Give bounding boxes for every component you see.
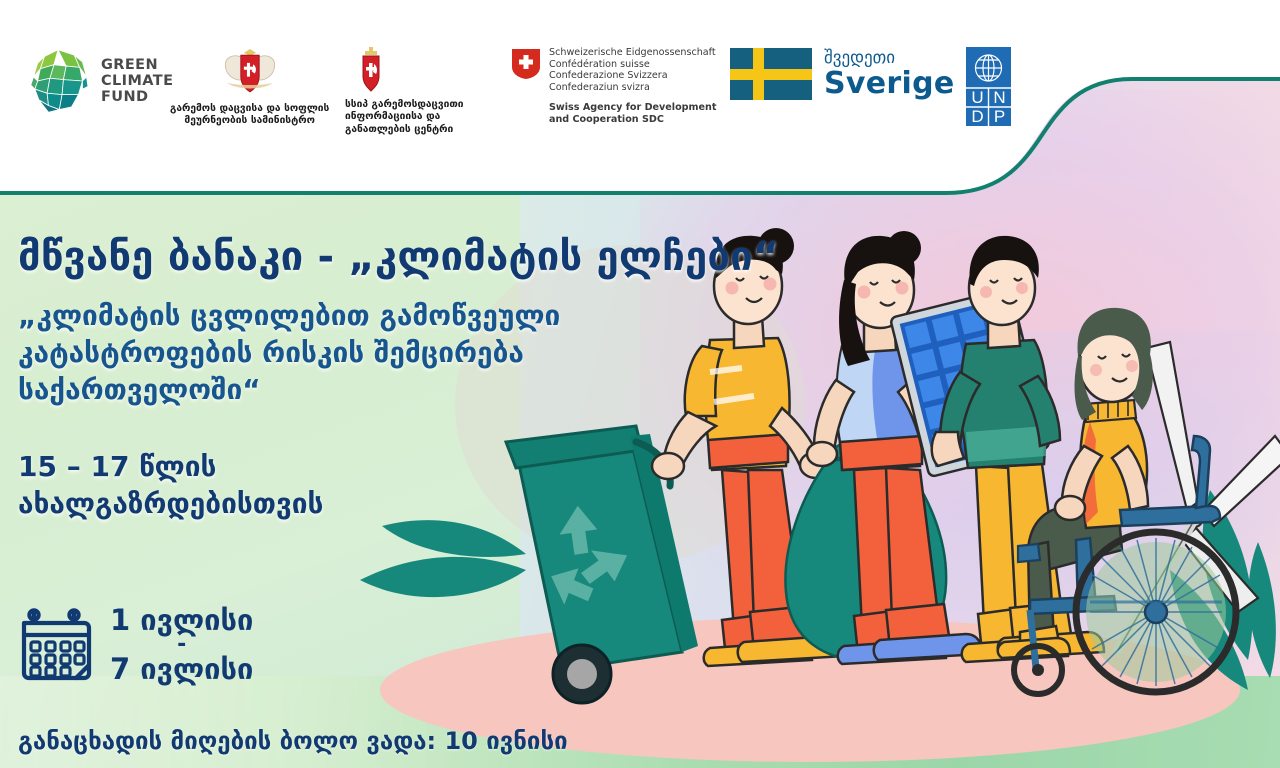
undp-letter-p: P	[994, 107, 1005, 126]
logo-green-climate-fund: GREEN CLIMATE FUND	[24, 47, 173, 115]
ministry-caption: გარემოს დაცვისა და სოფლის მეურნეობის სამ…	[170, 103, 329, 128]
gcf-wordmark: GREEN CLIMATE FUND	[101, 57, 173, 105]
sweden-label-ka: შვედეთი	[824, 49, 955, 68]
gcf-line-1: GREEN	[101, 57, 173, 73]
swiss-line-4: Confederaziun svizra	[549, 82, 716, 94]
swiss-shield-icon	[512, 49, 540, 79]
gcf-line-3: FUND	[101, 89, 173, 105]
ministry-line-1: გარემოს დაცვისა და სოფლის	[170, 103, 329, 115]
logo-undp: U N D P	[966, 47, 1011, 126]
logo-swiss-agency-development-cooperation: Schweizerische Eidgenossenschaft Confédé…	[512, 47, 716, 126]
georgia-coat-of-arms-icon	[355, 46, 387, 94]
ministry-line-2: მეურნეობის სამინისტრო	[170, 115, 329, 127]
undp-un-emblem-icon: U N D P	[966, 47, 1011, 126]
undp-letter-d: D	[971, 107, 983, 126]
logo-sweden: შვედეთი Sverige	[730, 48, 955, 100]
swiss-line-2: Confédération suisse	[549, 59, 716, 71]
eiec-line-2: ინფორმაციისა და	[345, 111, 464, 123]
page-subtitle: „კლიმატის ცვლილებით გამოწვეული კატასტროფ…	[18, 297, 678, 408]
swiss-line-1: Schweizerische Eidgenossenschaft	[549, 47, 716, 59]
subtitle-line-1: „კლიმატის ცვლილებით გამოწვეული	[18, 297, 678, 334]
logo-ministry-environment-agriculture: გარემოს დაცვისა და სოფლის მეურნეობის სამ…	[170, 46, 329, 128]
calendar-icon	[16, 605, 94, 685]
sweden-label-sv: Sverige	[824, 68, 955, 100]
page-title: მწვანე ბანაკი - „კლიმატის ელჩები“	[18, 233, 918, 281]
logo-row: GREEN CLIMATE FUND გარემოს დაცვისა და სო…	[0, 0, 1280, 190]
sweden-wordmark: შვედეთი Sverige	[824, 49, 955, 100]
leaf-plants-left	[360, 520, 526, 597]
subtitle-line-2: კატასტროფების რისკის შემცირება	[18, 334, 678, 371]
globe-polygon-icon	[24, 47, 92, 115]
eiec-line-1: სსიპ გარემოსდაცვითი	[345, 99, 464, 111]
swiss-agency-line-2: and Cooperation SDC	[549, 114, 716, 126]
poster-root: GREEN CLIMATE FUND გარემოს დაცვისა და სო…	[0, 0, 1280, 768]
eiec-caption: სსიპ გარემოსდაცვითი ინფორმაციისა და განა…	[345, 99, 464, 136]
date-block: 1 ივლისი - 7 ივლისი	[16, 604, 253, 686]
swiss-line-3: Confederazione Svizzera	[549, 70, 716, 82]
age-range: 15 – 17 წლის ახალგაზრდებისთვის	[18, 448, 518, 522]
undp-letter-n: N	[993, 88, 1005, 107]
application-deadline: განაცხადის მიღების ბოლო ვადა: 10 ივნისი	[18, 726, 568, 756]
age-range-line-1: 15 – 17 წლის	[18, 448, 518, 485]
age-range-line-2: ახალგაზრდებისთვის	[18, 485, 518, 522]
gcf-line-2: CLIMATE	[101, 73, 173, 89]
georgia-coat-of-arms-icon	[219, 46, 281, 98]
undp-letter-u: U	[971, 88, 983, 107]
eiec-line-3: განათლების ცენტრი	[345, 124, 464, 136]
date-range: 1 ივლისი - 7 ივლისი	[110, 604, 253, 686]
logo-environmental-information-education-centre: სსიპ გარემოსდაცვითი ინფორმაციისა და განა…	[345, 46, 464, 136]
date-separator: -	[110, 637, 253, 653]
sweden-flag-icon	[730, 48, 812, 100]
swiss-agency-line-1: Swiss Agency for Development	[549, 102, 716, 114]
subtitle-line-3: საქართველოში“	[18, 371, 678, 408]
swiss-caption: Schweizerische Eidgenossenschaft Confédé…	[549, 47, 716, 126]
date-end: 7 ივლისი	[110, 653, 253, 686]
